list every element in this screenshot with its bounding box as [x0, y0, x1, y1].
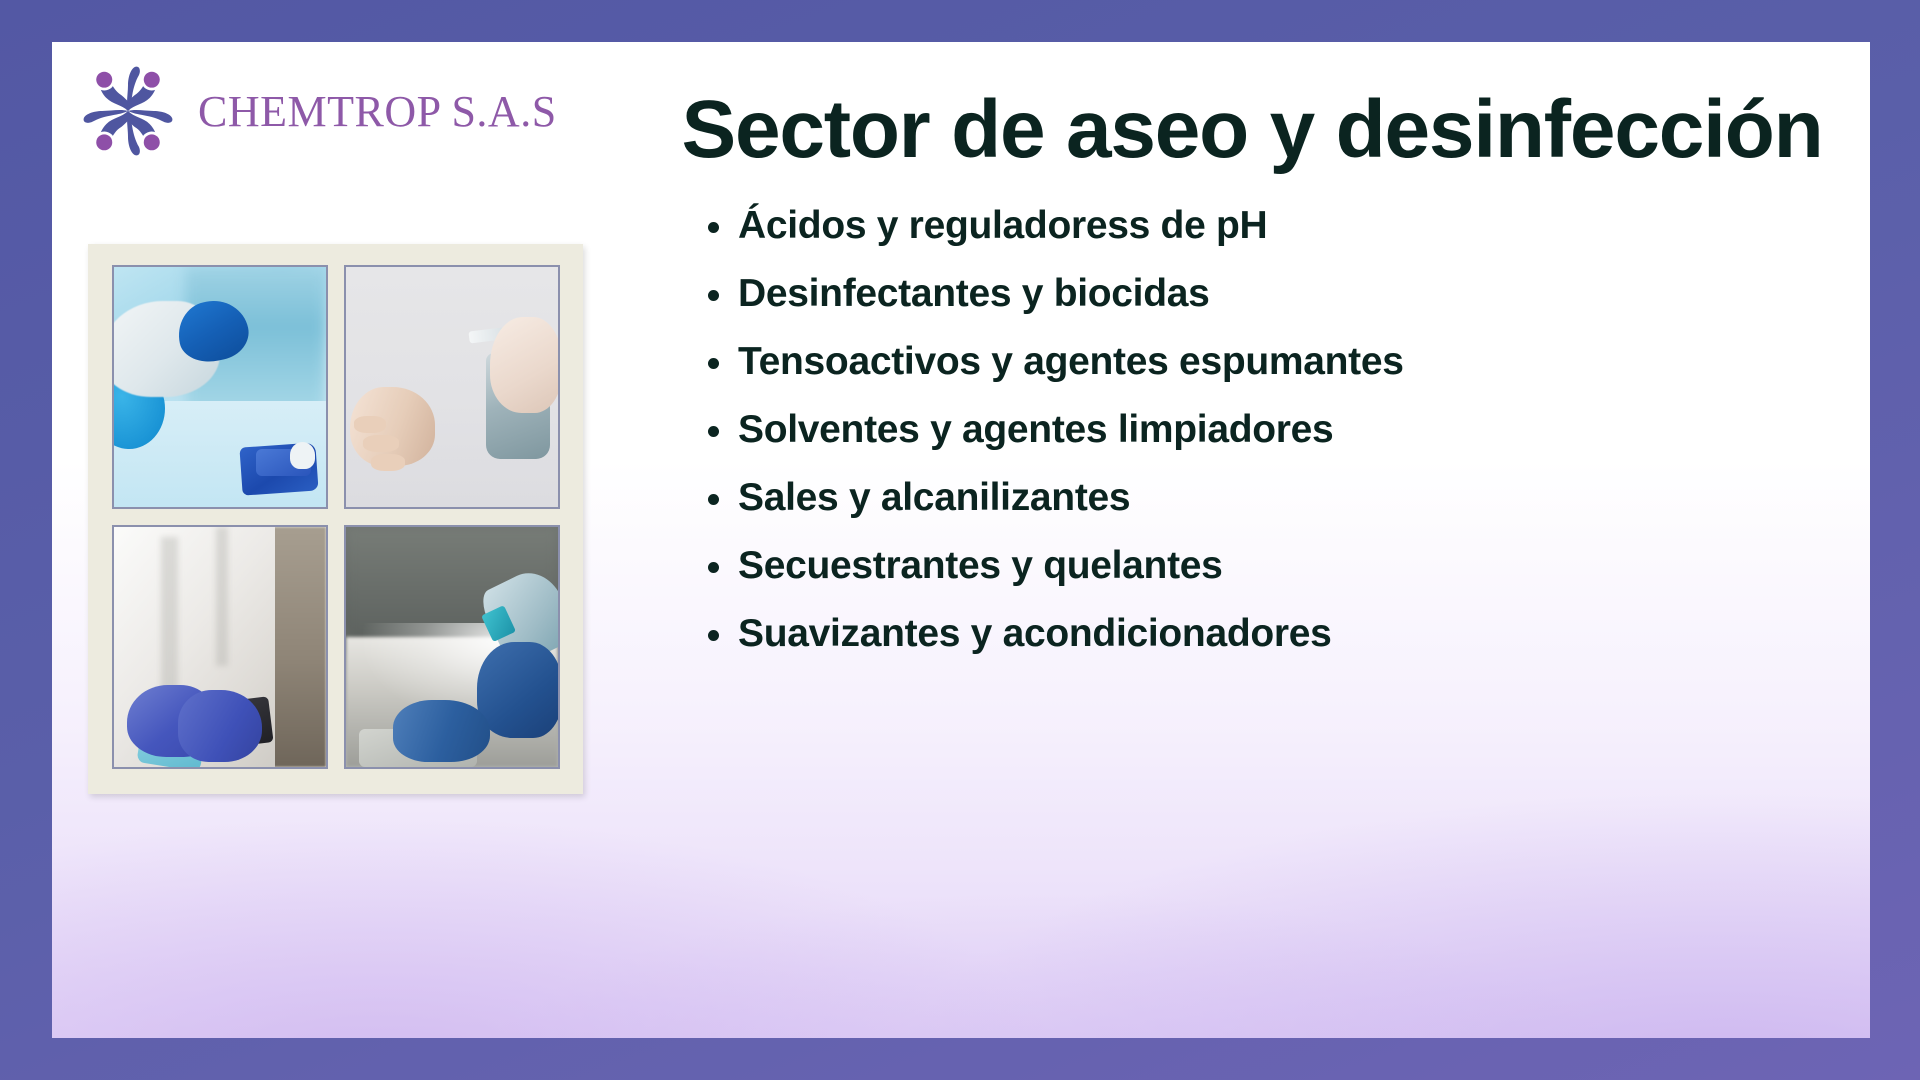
photo3-wall	[271, 527, 326, 767]
four-people-star-icon	[74, 57, 182, 165]
list-item-label: Suavizantes y acondicionadores	[738, 612, 1332, 655]
list-item: Tensoactivos y agentes espumantes	[702, 342, 1832, 381]
photo2-pressing-hand	[490, 317, 560, 413]
list-item-label: Desinfectantes y biocidas	[738, 272, 1210, 315]
page-title: Sector de aseo y desinfección	[672, 70, 1832, 172]
photo4-blue-glove-wiping	[393, 700, 491, 762]
list-item: Desinfectantes y biocidas	[702, 274, 1832, 313]
gloved-hand-blue-spray-bottle-photo	[112, 265, 328, 509]
photo2-finger-3	[371, 454, 405, 471]
protective-suit-blue-gloves-photo	[112, 525, 328, 769]
spray-mist-surface-photo	[344, 525, 560, 769]
brand-logo-block: CHEMTROP S.A.S	[74, 57, 557, 165]
list-item-label: Sales y alcanilizantes	[738, 476, 1130, 519]
photo2-finger-1	[354, 416, 386, 433]
photo4-blue-glove-holding	[477, 642, 560, 738]
list-item: Solventes y agentes limpiadores	[702, 410, 1832, 449]
list-item-label: Tensoactivos y agentes espumantes	[738, 340, 1404, 383]
list-item: Ácidos y reguladoress de pH	[702, 206, 1832, 245]
list-item: Sales y alcanilizantes	[702, 478, 1832, 517]
product-category-list: Ácidos y reguladoress de pH Desinfectant…	[672, 206, 1832, 653]
photo2-finger-2	[363, 435, 399, 452]
slide-card: CHEMTROP S.A.S	[52, 42, 1870, 1038]
list-item: Suavizantes y acondicionadores	[702, 614, 1832, 653]
photo3-suit-fold-1	[161, 537, 178, 705]
list-item-label: Ácidos y reguladoress de pH	[738, 204, 1267, 247]
hand-sanitizer-pump-photo	[344, 265, 560, 509]
photo3-suit-fold-2	[216, 527, 229, 666]
list-item-label: Solventes y agentes limpiadores	[738, 408, 1333, 451]
image-collage	[88, 244, 583, 794]
list-item: Secuestrantes y quelantes	[702, 546, 1832, 585]
slide-canvas: CHEMTROP S.A.S	[0, 0, 1920, 1080]
list-item-label: Secuestrantes y quelantes	[738, 544, 1223, 587]
photo1-fingertip	[290, 442, 315, 468]
photo3-blue-glove-right	[178, 690, 263, 762]
brand-wordmark: CHEMTROP S.A.S	[198, 86, 557, 137]
content-column: Sector de aseo y desinfección Ácidos y r…	[672, 70, 1832, 682]
